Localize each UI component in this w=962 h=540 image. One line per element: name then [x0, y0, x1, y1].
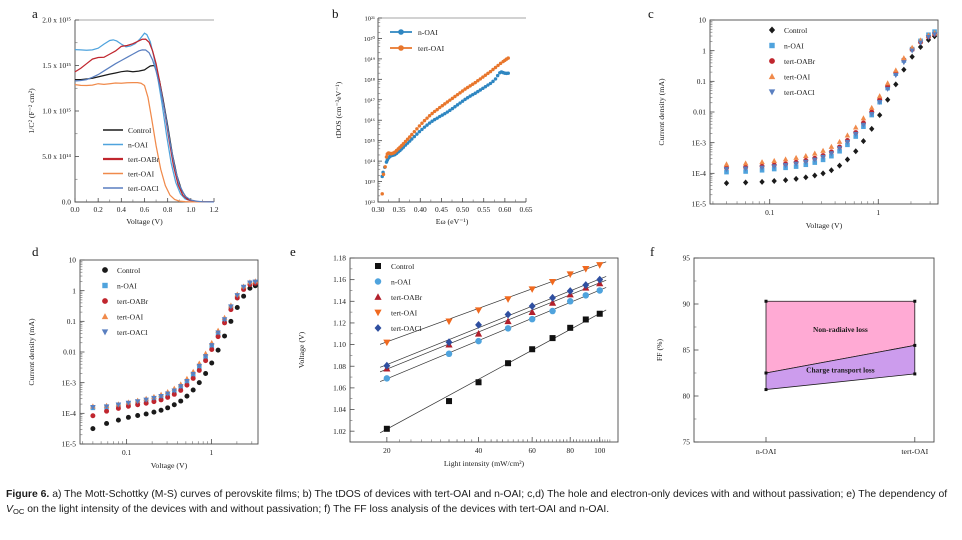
panel-e-legend-marker [374, 310, 381, 317]
panel-e-point [550, 335, 556, 341]
panel-c-point [771, 158, 777, 163]
panel-c-series [724, 32, 937, 171]
panel-d-legend-label: n-OAI [117, 282, 137, 291]
panel-b-point [507, 71, 510, 74]
panel-b-point [381, 192, 384, 195]
panel-e-legend-label: tert-OACl [391, 324, 422, 333]
panel-a-ytick-label: 1.0 x 10¹⁵ [42, 107, 71, 116]
panel-c-legend-label: tert-OABr [784, 57, 816, 66]
panel-d-ytick-label: 0.1 [67, 317, 77, 326]
panel-b-point [418, 124, 421, 127]
panel-c-ytick-label: 1 [702, 46, 706, 55]
panel-e-series [383, 276, 603, 370]
figure-caption-cd: c,d) The hole and electron-only devices … [527, 489, 843, 500]
panel-e-yaxis-title: Voltage (V) [297, 331, 306, 368]
panel-e-point [583, 292, 589, 298]
panel-d-legend-marker [102, 267, 108, 273]
panel-e-ytick-label: 1.04 [333, 405, 346, 414]
panel-a-legend-label: tert-OAI [128, 169, 155, 178]
panel-c-point [803, 153, 809, 158]
panel-d-ytick-label: 10 [69, 256, 77, 265]
panel-b-ytick-label: 10¹³ [364, 179, 375, 186]
panel-e-xtick-label: 60 [528, 446, 536, 455]
panel-a-xtick-label: 0.4 [117, 205, 127, 214]
panel-d-legend-marker [102, 283, 107, 288]
panel-d-point [144, 411, 149, 416]
panel-d-ytick-label: 0.01 [63, 348, 76, 357]
panel-d-point [178, 399, 183, 404]
panel-c-ytick-label: 1E-3 [692, 138, 707, 147]
panel-d-series [90, 281, 257, 418]
panel-e-ytick-label: 1.16 [333, 275, 346, 284]
panel-e-plot: 1.021.041.061.081.101.121.141.161.182040… [288, 244, 628, 484]
panel-a-plot: 0.05.0 x 10¹⁴1.0 x 10¹⁵1.5 x 10¹⁵2.0 x 1… [18, 4, 218, 240]
panel-e-ytick-label: 1.10 [333, 340, 346, 349]
panel-d-letter: d [32, 244, 39, 260]
panel-e-legend-marker [375, 278, 381, 284]
panel-f-point [765, 388, 768, 391]
panel-e-point [596, 276, 603, 284]
figure-caption-f: f) The FF loss analysis of the devices w… [324, 504, 609, 515]
panel-d-legend-marker [102, 313, 108, 319]
panel-e-point [384, 375, 390, 381]
panel-c-point [759, 179, 764, 185]
panel-c-legend-marker [769, 58, 775, 64]
panel-e-xtick-label: 20 [383, 446, 391, 455]
panel-d-point [116, 418, 121, 423]
panel-a-xtick-label: 0.2 [94, 205, 104, 214]
panel-c-point [845, 132, 851, 137]
panel-c-xaxis-title: Voltage (V) [806, 221, 843, 230]
panel-e-point [476, 379, 482, 385]
panel-d-point [203, 371, 208, 376]
panel-f-nonradiative-label: Non-radiaive loss [813, 325, 868, 334]
panel-c-plot: 1E-51E-41E-30.010.11100.11Voltage (V)Cur… [648, 4, 948, 240]
panel-f-point [913, 300, 916, 303]
panel-f-letter: f [650, 244, 654, 260]
panel-c-xtick-label: 1 [876, 208, 880, 217]
panel-b-yaxis-title: tDOS (cm⁻³eV⁻¹) [334, 81, 343, 138]
figure-caption: Figure 6. a) The Mott-Schottky (M-S) cur… [6, 488, 956, 518]
panel-c-legend-marker [769, 43, 774, 48]
panel-d-legend-marker [102, 329, 108, 335]
panel-a-ytick-label: 2.0 x 10¹⁵ [42, 16, 71, 25]
panel-d-point [90, 426, 95, 431]
panel-c-point [885, 80, 891, 85]
panel-e-point [475, 307, 482, 314]
panel-c-letter: c [648, 6, 654, 22]
figure-caption-e-pre: e) The dependency of [846, 489, 947, 500]
figure-caption-voc: V [6, 504, 13, 515]
panel-e-xtick-label: 100 [594, 446, 605, 455]
panel-d-legend-label: tert-OABr [117, 297, 149, 306]
panel-c-point [820, 170, 825, 176]
panel-e-point [549, 294, 556, 302]
panel-b-legend-marker [398, 29, 404, 35]
panel-d: d 1E-51E-41E-30.010.11100.11Voltage (V)C… [18, 244, 268, 484]
panel-d-point [222, 334, 227, 339]
panel-d-point [228, 319, 233, 324]
panel-c-xtick-label: 0.1 [765, 208, 775, 217]
panel-c-point [793, 155, 799, 160]
panel-f-ytick-label: 90 [683, 300, 691, 309]
panel-c-point [812, 151, 818, 156]
panel-c-point [893, 81, 898, 87]
panel-d-point [126, 415, 131, 420]
panel-c-point [901, 55, 907, 60]
panel-c-point [877, 112, 882, 118]
panel-c-point [724, 180, 729, 186]
panel-b-xtick-label: 0.50 [456, 205, 469, 214]
panel-c-point [861, 115, 867, 120]
panel-d-legend-label: tert-OACl [117, 328, 148, 337]
panel-c-point [743, 180, 748, 186]
panel-b-ytick-label: 10²¹ [364, 16, 375, 23]
panel-e-ytick-label: 1.06 [333, 383, 346, 392]
panel-f-yaxis-title: FF (%) [655, 338, 664, 361]
figure-caption-b: b) The tDOS of devices with tert-OAI and… [303, 489, 525, 500]
panel-c-legend-label: tert-OAI [784, 73, 811, 82]
panel-d-plot: 1E-51E-41E-30.010.11100.11Voltage (V)Cur… [18, 244, 268, 484]
panel-b-point [383, 165, 386, 168]
panel-a-xtick-label: 0.8 [163, 205, 173, 214]
panel-c-legend-marker [769, 73, 775, 79]
panel-e-ytick-label: 1.14 [333, 297, 346, 306]
figure-caption-e-post: on the light intensity of the devices wi… [24, 504, 321, 515]
panel-f-point [913, 344, 916, 347]
panel-c-point [837, 139, 843, 144]
panel-d-legend-label: tert-OAI [117, 313, 144, 322]
panel-c-point [901, 67, 906, 73]
panel-b-ytick-label: 10¹⁷ [364, 97, 376, 104]
panel-d-point [104, 421, 109, 426]
panel-f-ytick-label: 85 [683, 346, 691, 355]
panel-c-point [885, 97, 890, 103]
panel-a: a 0.05.0 x 10¹⁴1.0 x 10¹⁵1.5 x 10¹⁵2.0 x… [18, 4, 218, 240]
panel-c-point [820, 148, 826, 153]
panel-d-point [184, 394, 189, 399]
panel-e: e 1.021.041.061.081.101.121.141.161.1820… [288, 244, 628, 484]
panel-a-legend-label: tert-OACl [128, 184, 159, 193]
panel-b-ytick-label: 10²⁰ [364, 35, 376, 43]
panel-f: f 7580859095n-OAItert-OAINon-radiaive lo… [648, 244, 948, 484]
panel-f-ytick-label: 80 [683, 392, 691, 401]
panel-b-ytick-label: 10¹⁹ [364, 56, 376, 63]
panel-f-point [765, 372, 768, 375]
panel-c-series [724, 30, 938, 166]
panel-e-legend-marker [374, 293, 381, 300]
panel-b-point [415, 132, 418, 135]
panel-e-point [529, 316, 535, 322]
panel-d-xaxis-title: Voltage (V) [151, 461, 188, 470]
panel-b: b 10¹²10¹³10¹⁴10¹⁵10¹⁶10¹⁷10¹⁸10¹⁹10²⁰10… [330, 4, 530, 240]
panel-d-point [191, 388, 196, 393]
panel-c-point [829, 144, 835, 149]
figure-6-root: a 0.05.0 x 10¹⁴1.0 x 10¹⁵1.5 x 10¹⁵2.0 x… [0, 0, 962, 540]
panel-b-xtick-label: 0.45 [435, 205, 448, 214]
panel-b-point [410, 133, 413, 136]
panel-b-xtick-label: 0.65 [520, 205, 533, 214]
panel-b-point [494, 77, 497, 80]
panel-b-ytick-label: 10¹⁴ [364, 159, 376, 166]
panel-b-legend-label: n-OAI [418, 28, 438, 37]
panel-b-point [415, 127, 418, 130]
panel-c-frame [710, 20, 938, 204]
panel-c-ytick-label: 1E-4 [692, 169, 707, 178]
panel-f-point [913, 372, 916, 375]
panel-b-xaxis-title: Eω (eV⁻¹) [436, 217, 469, 226]
panel-e-point [505, 360, 511, 366]
panel-e-point [549, 308, 555, 314]
panel-e-point [504, 296, 511, 303]
panel-e-legend-label: Control [391, 262, 414, 271]
panel-e-point [597, 311, 603, 317]
panel-d-yaxis-title: Current density (mA) [27, 318, 36, 386]
panel-c-point [812, 172, 817, 178]
panel-a-xtick-label: 1.0 [186, 205, 196, 214]
panel-b-point [507, 56, 510, 59]
panel-b-series [381, 70, 510, 178]
panel-c-point [869, 105, 875, 110]
panel-a-letter: a [32, 6, 38, 22]
panel-e-legend-marker [375, 324, 382, 332]
panel-c-point [793, 176, 798, 182]
panel-c-ytick-label: 10 [699, 16, 707, 25]
panel-c-point [724, 161, 730, 166]
panel-e-ytick-label: 1.12 [333, 319, 346, 328]
panel-d-point [197, 380, 202, 385]
panel-d-ytick-label: 1E-5 [62, 440, 77, 449]
panel-f-plot: 7580859095n-OAItert-OAINon-radiaive loss… [648, 244, 948, 484]
panel-b-legend-marker [398, 45, 404, 51]
panel-e-point [567, 271, 574, 278]
panel-e-point [567, 298, 573, 304]
panel-b-point [420, 122, 423, 125]
panel-e-point [475, 338, 481, 344]
panel-f-point [765, 300, 768, 303]
panel-d-point [172, 402, 177, 407]
panel-c-point [783, 177, 788, 183]
panel-a-legend-label: Control [128, 126, 151, 135]
panel-b-series [381, 56, 510, 195]
panel-b-legend-label: tert-OAI [418, 44, 445, 53]
panel-b-ytick-label: 10¹⁸ [364, 77, 376, 84]
panel-a-xtick-label: 0.0 [70, 205, 80, 214]
panel-e-point [446, 351, 452, 357]
panel-c-point [743, 160, 749, 165]
panel-c-ytick-label: 0.1 [697, 77, 707, 86]
panel-e-point [446, 398, 452, 404]
panel-b-point [385, 155, 388, 158]
panel-a-xtick-label: 1.2 [209, 205, 219, 214]
panel-d-xtick-label: 1 [210, 448, 214, 457]
panel-e-point [475, 321, 482, 329]
panel-c-point [877, 93, 883, 98]
panel-e-point [596, 262, 603, 269]
panel-b-point [491, 80, 494, 83]
panel-c-point [845, 157, 850, 163]
panel-a-yaxis-title: 1/C² (F⁻² cm²) [27, 88, 36, 134]
panel-e-point [445, 318, 452, 325]
panel-c-point [759, 159, 765, 164]
panel-e-legend-label: tert-OABr [391, 293, 423, 302]
panel-c-ytick-label: 0.01 [693, 108, 706, 117]
panel-d-point [151, 410, 156, 415]
panel-c-point [893, 67, 899, 72]
panel-b-letter: b [332, 6, 339, 22]
panel-e-point [596, 287, 602, 293]
panel-c-point [772, 178, 777, 184]
panel-a-legend-label: n-OAI [128, 140, 148, 149]
figure-caption-a: a) The Mott-Schottky (M-S) curves of per… [52, 489, 300, 500]
panel-e-ytick-label: 1.18 [333, 254, 346, 263]
panel-d-point [241, 294, 246, 299]
panel-e-letter: e [290, 244, 296, 260]
panel-e-point [583, 316, 589, 322]
panel-d-point [165, 405, 170, 410]
panel-c-point [909, 54, 914, 60]
panel-a-xaxis-title: Voltage (V) [126, 217, 163, 226]
panel-d-point [90, 413, 95, 418]
panel-b-point [423, 119, 426, 122]
panel-d-point [135, 413, 140, 418]
panel-c: c 1E-51E-41E-30.010.11100.11Voltage (V)C… [648, 4, 948, 240]
panel-c-point [803, 174, 808, 180]
panel-a-ytick-label: 5.0 x 10¹⁴ [42, 152, 71, 161]
panel-b-plot: 10¹²10¹³10¹⁴10¹⁵10¹⁶10¹⁷10¹⁸10¹⁹10²⁰10²¹… [330, 4, 530, 240]
figure-caption-label: Figure 6. [6, 489, 49, 500]
panel-b-point [425, 116, 428, 119]
panel-d-ytick-label: 1E-3 [62, 378, 77, 387]
panel-e-xaxis-title: Light intensity (mW/cm²) [444, 459, 525, 468]
panel-b-xtick-label: 0.40 [414, 205, 427, 214]
panel-c-yaxis-title: Current density (mA) [657, 78, 666, 146]
figure-caption-voc-sub: OC [13, 507, 24, 516]
panel-c-point [837, 163, 842, 169]
panel-d-point [209, 361, 214, 366]
panel-b-point [413, 130, 416, 133]
panel-e-legend-label: n-OAI [391, 278, 411, 287]
panel-a-xtick-label: 0.6 [140, 205, 150, 214]
panel-e-point [567, 325, 573, 331]
panel-d-legend-label: Control [117, 266, 140, 275]
panel-d-xtick-label: 0.1 [122, 448, 132, 457]
panel-e-ytick-label: 1.02 [333, 427, 346, 436]
panel-e-legend-label: tert-OAI [391, 309, 418, 318]
panel-f-category-label: tert-OAI [901, 447, 928, 456]
panel-c-ytick-label: 1E-5 [692, 200, 707, 209]
panel-c-point [853, 124, 859, 129]
panel-e-point [529, 346, 535, 352]
panel-d-ytick-label: 1 [72, 286, 76, 295]
panel-b-xtick-label: 0.30 [372, 205, 385, 214]
panel-b-ytick-label: 10¹⁶ [364, 118, 375, 125]
panel-c-legend-label: tert-OACl [784, 88, 815, 97]
panel-c-series [724, 33, 937, 186]
panel-c-point [861, 138, 866, 144]
panel-c-series [724, 32, 938, 172]
panel-a-ytick-label: 1.5 x 10¹⁵ [42, 61, 71, 70]
panel-b-point [496, 74, 499, 77]
panel-b-xtick-label: 0.55 [477, 205, 490, 214]
panel-e-ytick-label: 1.08 [333, 362, 346, 371]
panel-c-point [869, 126, 874, 132]
panel-b-ytick-label: 10¹⁵ [364, 138, 375, 145]
panel-d-point [235, 305, 240, 310]
panel-f-ytick-label: 75 [683, 438, 691, 447]
panel-d-series [90, 280, 258, 410]
panel-d-point [216, 348, 221, 353]
panel-c-legend-marker [769, 89, 775, 95]
panel-c-legend-marker [769, 26, 775, 33]
panel-b-xtick-label: 0.35 [393, 205, 406, 214]
panel-d-ytick-label: 1E-4 [62, 409, 77, 418]
panel-e-point [505, 311, 512, 319]
panel-e-xtick-label: 40 [475, 446, 483, 455]
panel-e-point [384, 426, 390, 432]
panel-a-legend-label: tert-OABr [128, 155, 160, 164]
panel-c-point [783, 156, 789, 161]
panel-c-legend-label: n-OAI [784, 42, 804, 51]
panel-e-legend-marker [375, 263, 381, 269]
panel-e-point [505, 325, 511, 331]
panel-c-legend-label: Control [784, 26, 807, 35]
panel-f-category-label: n-OAI [756, 447, 777, 456]
panel-e-xtick-label: 80 [567, 446, 575, 455]
panel-d-legend-marker [102, 298, 108, 304]
panel-b-xtick-label: 0.60 [498, 205, 511, 214]
panel-c-point [853, 148, 858, 154]
panel-e-point [582, 266, 589, 273]
panel-b-point [382, 173, 385, 176]
panel-d-point [159, 408, 164, 413]
panel-f-charge-transport-label: Charge transport loss [806, 365, 875, 374]
panel-c-point [829, 167, 834, 173]
panel-f-ytick-label: 95 [683, 254, 691, 263]
